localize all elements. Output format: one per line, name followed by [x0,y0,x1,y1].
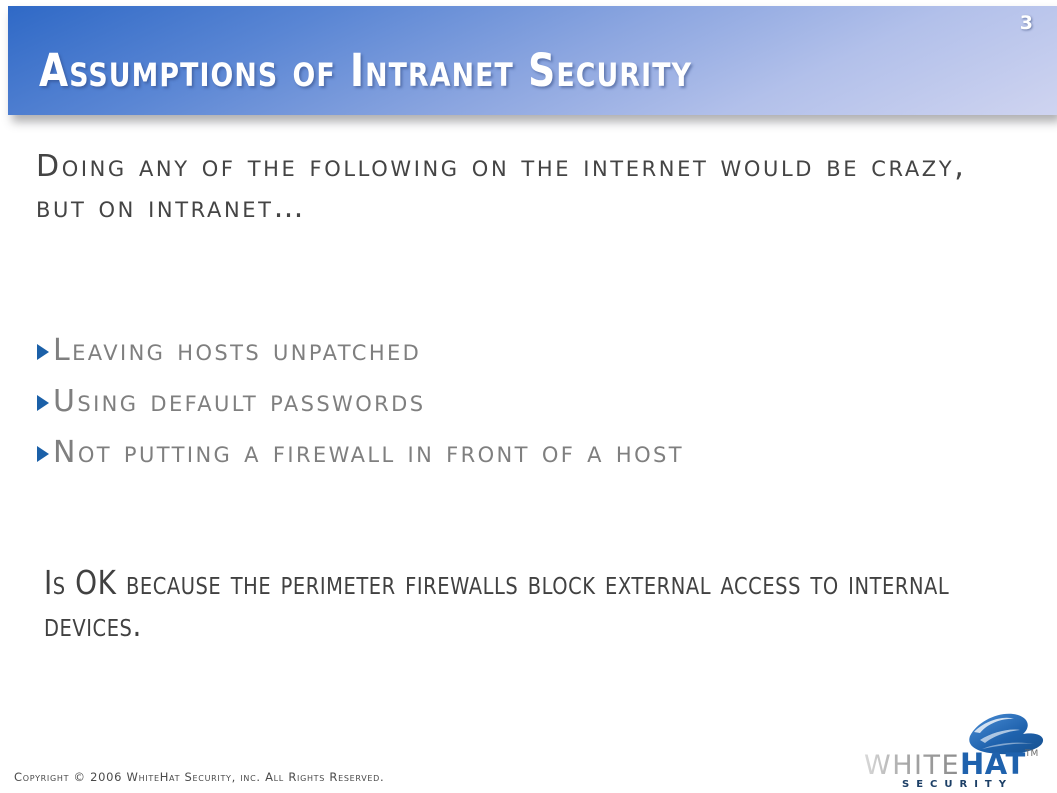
list-item: Using default passwords [36,381,1036,423]
logo-trademark: TM [1024,749,1038,759]
logo-word-white: WHITE [864,750,960,781]
triangle-right-icon [36,445,52,463]
list-item-label: Not putting a firewall in front of a hos… [53,432,1036,474]
closing-paragraph: Is OK because the perimeter firewalls bl… [44,562,984,646]
whitehat-security-logo: WHITE HAT TM SECURITY [862,706,1052,788]
list-item-label: Using default passwords [53,381,1036,423]
slide: 3 Assumptions of Intranet Security Doing… [0,0,1057,793]
page-title: Assumptions of Intranet Security [39,48,692,93]
triangle-right-icon [36,394,52,412]
list-item: Leaving hosts unpatched [36,330,1036,372]
intro-paragraph: Doing any of the following on the intern… [36,146,1026,228]
logo-word-hat: HAT [960,747,1026,781]
slide-number: 3 [1020,14,1033,33]
title-banner: 3 Assumptions of Intranet Security [8,6,1057,115]
bullet-list: Leaving hosts unpatched Using default pa… [36,330,1036,483]
triangle-right-icon [36,343,52,361]
copyright-notice: Copyright © 2006 WhiteHat Security, inc.… [14,770,384,784]
list-item: Not putting a firewall in front of a hos… [36,432,1036,474]
list-item-label: Leaving hosts unpatched [53,330,1036,372]
logo-tagline: SECURITY [902,779,1013,788]
